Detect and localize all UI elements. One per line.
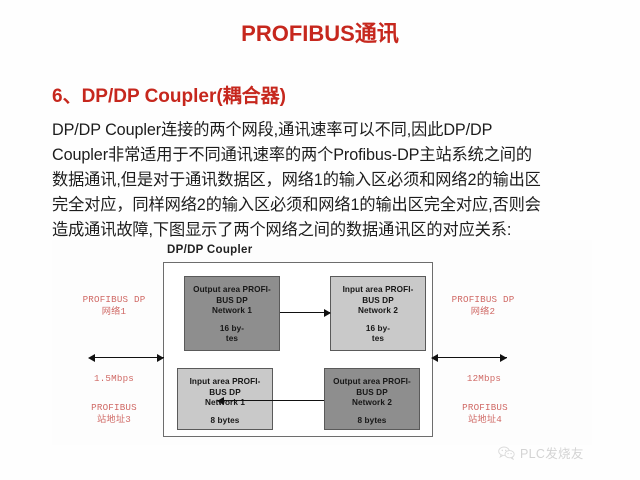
arrow-head-right-icon bbox=[324, 309, 331, 317]
annotation-line2: 站地址4 bbox=[468, 414, 502, 425]
body-line: 完全对应，同样网络2的输入区必须和网络1的输出区完全对应,否则会 bbox=[52, 193, 592, 218]
annotation-left-baudrate: 1.5Mbps bbox=[72, 373, 156, 385]
arrow-head-left-icon bbox=[217, 397, 224, 405]
connector-line-bottom bbox=[217, 400, 324, 401]
body-line: 数据通讯,但是对于通讯数据区，网络1的输入区必须和网络2的输出区 bbox=[52, 168, 592, 193]
area-box-input-network2: Input area PROFI- BUS DP Network 2 16 by… bbox=[330, 276, 426, 351]
watermark-text: PLC发烧友 bbox=[520, 443, 584, 462]
arrow-head-left-icon bbox=[88, 354, 95, 362]
body-line: Coupler非常适用于不同通讯速率的两个Profibus-DP主站系统之间的 bbox=[52, 143, 592, 168]
area-box-line2: BUS DP bbox=[356, 388, 388, 397]
network2-span-line bbox=[433, 357, 507, 358]
area-box-output-network1: Output area PROFI- BUS DP Network 1 16 b… bbox=[184, 276, 280, 351]
body-paragraph: DP/DP Coupler连接的两个网段,通讯速率可以不同,因此DP/DP Co… bbox=[52, 118, 592, 243]
area-box-line3: Network 2 bbox=[352, 398, 392, 407]
annotation-line2: 站地址3 bbox=[97, 414, 131, 425]
slide-canvas: PROFIBUS通讯 6、DP/DP Coupler(耦合器) DP/DP Co… bbox=[0, 0, 640, 480]
connector-line-top bbox=[280, 312, 330, 313]
coupler-title-label: DP/DP Coupler bbox=[167, 244, 252, 256]
area-box-line3: Network 1 bbox=[212, 306, 252, 315]
area-box-line2: BUS DP bbox=[362, 296, 394, 305]
annotation-line1: PROFIBUS bbox=[462, 402, 508, 413]
area-box-line1: Input area PROFI- bbox=[190, 377, 261, 386]
area-box-line2: BUS DP bbox=[209, 388, 241, 397]
area-box-line1: Output area PROFI- bbox=[193, 285, 271, 294]
area-box-input-network1: Input area PROFI- BUS DP Network 1 8 byt… bbox=[177, 368, 273, 430]
annotation-network1: PROFIBUS DP 网络1 bbox=[64, 294, 164, 317]
coupler-diagram: DP/DP Coupler Output area PROFI- BUS DP … bbox=[52, 240, 592, 445]
body-line: DP/DP Coupler连接的两个网段,通讯速率可以不同,因此DP/DP bbox=[52, 118, 592, 143]
area-box-size: 8 bytes bbox=[325, 416, 419, 427]
area-box-line3: Network 2 bbox=[358, 306, 398, 315]
annotation-right-baudrate: 12Mbps bbox=[442, 373, 526, 385]
annotation-network2: PROFIBUS DP 网络2 bbox=[433, 294, 533, 317]
annotation-line1: PROFIBUS DP bbox=[452, 294, 515, 305]
area-box-size: 16 by- bbox=[331, 324, 425, 335]
arrow-head-right-icon bbox=[500, 354, 507, 362]
arrow-head-right-icon bbox=[157, 354, 164, 362]
annotation-right-station-address: PROFIBUS 站地址4 bbox=[437, 402, 533, 425]
area-box-line1: Output area PROFI- bbox=[333, 377, 411, 386]
annotation-line1: PROFIBUS bbox=[91, 402, 137, 413]
section-heading: 6、DP/DP Coupler(耦合器) bbox=[52, 81, 286, 108]
area-box-size: 16 by- bbox=[185, 324, 279, 335]
area-box-output-network2: Output area PROFI- BUS DP Network 2 8 by… bbox=[324, 368, 420, 430]
area-box-size-cont: tes bbox=[372, 334, 384, 343]
area-box-line2: BUS DP bbox=[216, 296, 248, 305]
page-title: PROFIBUS通讯 bbox=[0, 16, 640, 48]
network1-span-line bbox=[90, 357, 164, 358]
wechat-icon bbox=[498, 446, 515, 460]
area-box-size: 8 bytes bbox=[178, 416, 272, 427]
area-box-line1: Input area PROFI- bbox=[343, 285, 414, 294]
annotation-left-station-address: PROFIBUS 站地址3 bbox=[66, 402, 162, 425]
watermark: PLC发烧友 bbox=[498, 443, 584, 462]
arrow-head-left-icon bbox=[431, 354, 438, 362]
annotation-line2: 网络1 bbox=[102, 306, 127, 317]
annotation-line2: 网络2 bbox=[471, 306, 496, 317]
annotation-line1: PROFIBUS DP bbox=[83, 294, 146, 305]
area-box-size-cont: tes bbox=[226, 334, 238, 343]
